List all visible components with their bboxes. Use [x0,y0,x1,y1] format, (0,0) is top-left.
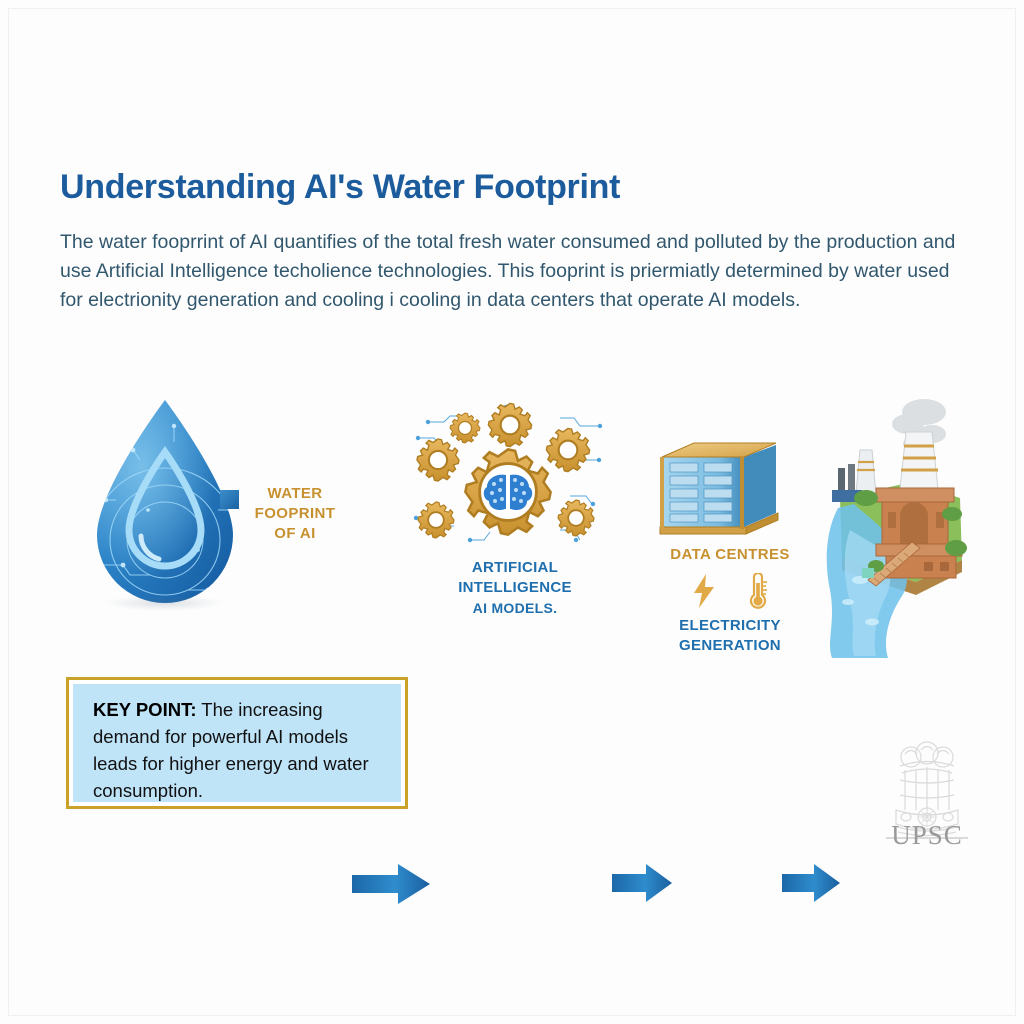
droplet-shadow [104,595,224,611]
key-point-text: KEY POINT: The increasing demand for pow… [93,696,387,804]
server-rack-icon [652,435,792,545]
label-water-line-3: OF AI [236,524,354,544]
label-artificial-intelligence: ARTIFICIAL INTELLIGENCE AI MODELS. [420,558,610,618]
label-ai-line-2: INTELLIGENCE [420,578,610,598]
infographic-page: Understanding AI's Water Footprint The w… [0,0,1024,1024]
label-data-centres: DATA CENTRES [650,545,810,565]
label-elec-line-2: GENERATION [650,636,810,656]
label-elec-line-1: ELECTRICITY [650,616,810,636]
stage-artificial-intelligence [410,400,610,565]
gears-brain-icon [410,400,610,565]
stage-power-plant-river [820,390,995,660]
flow-diagram [0,380,1024,680]
label-electricity-generation: ELECTRICITY GENERATION [650,616,810,656]
label-ai-line-1: ARTIFICIAL [420,558,610,578]
data-centre-icon-row [650,570,810,612]
thermometer-icon [746,573,768,609]
label-water-footprint: WATER FOOPRINT OF AI [236,484,354,544]
key-point-inner: KEY POINT: The increasing demand for pow… [73,684,401,802]
label-water-line-1: WATER [236,484,354,504]
brain-icon [484,475,532,510]
factory-river-icon [820,390,995,660]
key-point-box: KEY POINT: The increasing demand for pow… [66,677,408,809]
label-ai-models: AI MODELS. [420,598,610,618]
label-water-line-2: FOOPRINT [236,504,354,524]
lightning-bolt-icon [692,574,716,608]
upsc-watermark-label: UPSC [878,820,976,851]
page-title: Understanding AI's Water Footprint [60,168,620,207]
flow-arrow-1 [352,864,430,904]
flow-arrow-2 [612,864,672,902]
flow-arrow-3 [782,864,840,902]
key-point-prefix: KEY POINT: [93,699,196,720]
stage-data-centres [652,435,792,545]
intro-paragraph: The water fooprrint of AI quantifies of … [60,228,965,315]
